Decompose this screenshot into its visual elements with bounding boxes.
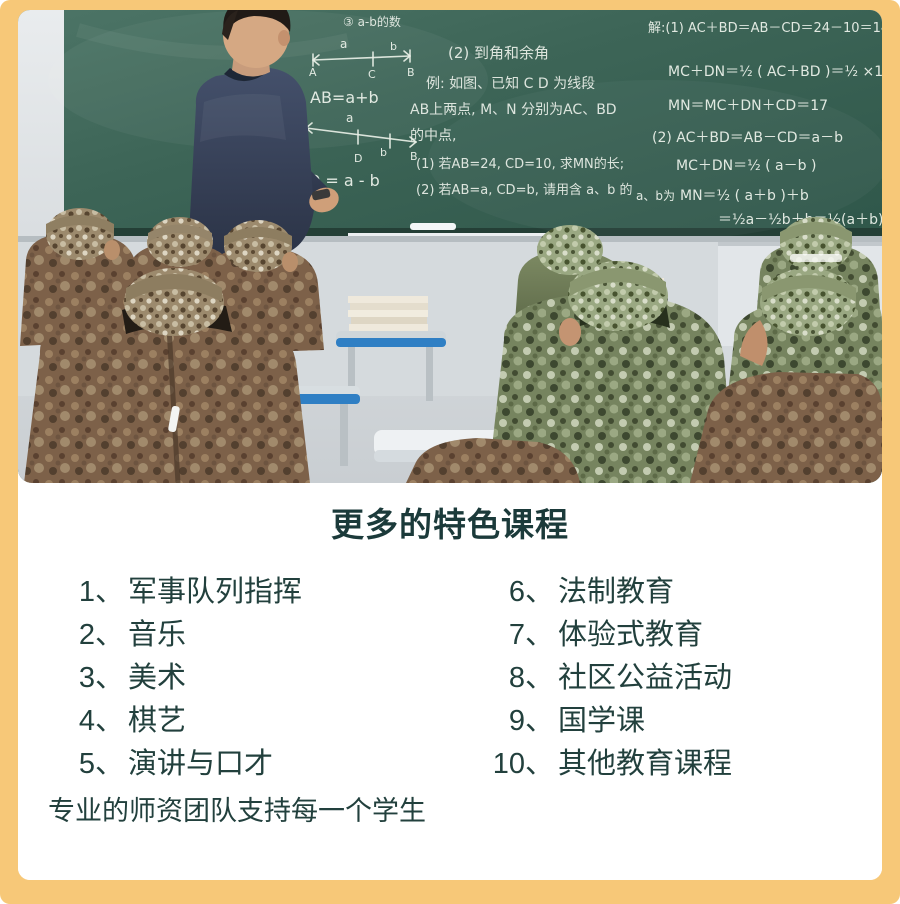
course-item-4[interactable]: 4、 棋艺 (46, 700, 446, 743)
course-item-8[interactable]: 8、 社区公益活动 (468, 657, 868, 700)
course-label: 棋艺 (128, 700, 186, 743)
course-label: 法制教育 (558, 571, 674, 614)
poster-card: a b A C B AB=a+b a b A D B D = a - b (0, 0, 900, 904)
svg-text:b: b (380, 146, 387, 159)
svg-text:的中点,: 的中点, (410, 128, 456, 144)
course-list: 1、 军事队列指挥 2、 音乐 3、 美术 4、 棋艺 (18, 571, 882, 786)
svg-text:D: D (354, 152, 362, 165)
page-title: 更多的特色课程 (18, 505, 882, 545)
svg-text:C: C (368, 68, 376, 81)
svg-text:(2) 到角和余角: (2) 到角和余角 (448, 44, 549, 62)
course-item-6[interactable]: 6、 法制教育 (468, 571, 868, 614)
course-label: 社区公益活动 (558, 657, 732, 700)
svg-text:MN＝½ ( a＋b )＋b: MN＝½ ( a＋b )＋b (680, 188, 809, 204)
svg-text:AB上两点, M、N 分别为AC、BD: AB上两点, M、N 分别为AC、BD (410, 102, 617, 118)
svg-text:MC＋DN＝½ ( AC＋BD )＝½ ×14＝7: MC＋DN＝½ ( AC＋BD )＝½ ×14＝7 (668, 64, 882, 80)
course-number: 3、 (46, 657, 128, 700)
course-number: 9、 (468, 700, 558, 743)
course-label: 美术 (128, 657, 186, 700)
svg-text:a: a (340, 37, 347, 51)
svg-text:a: a (346, 111, 353, 125)
svg-text:a、b为: a、b为 (636, 189, 675, 203)
course-label: 演讲与口才 (128, 743, 273, 786)
course-column-left: 1、 军事队列指挥 2、 音乐 3、 美术 4、 棋艺 (46, 571, 446, 786)
course-item-1[interactable]: 1、 军事队列指挥 (46, 571, 446, 614)
svg-text:解:(1) AC＋BD＝AB－CD＝24－10＝14: 解:(1) AC＋BD＝AB－CD＝24－10＝14 (648, 21, 882, 36)
course-item-9[interactable]: 9、 国学课 (468, 700, 868, 743)
course-number: 10、 (468, 743, 558, 786)
classroom-photo-illustration: a b A C B AB=a+b a b A D B D = a - b (18, 10, 882, 483)
course-column-right: 6、 法制教育 7、 体验式教育 8、 社区公益活动 9、 国学课 (468, 571, 868, 786)
course-label: 其他教育课程 (558, 743, 732, 786)
svg-text:MC＋DN＝½ ( a－b ): MC＋DN＝½ ( a－b ) (676, 158, 816, 174)
tagline: 专业的师资团队支持每一个学生 (18, 794, 882, 829)
course-number: 5、 (46, 743, 128, 786)
svg-text:AB=a+b: AB=a+b (310, 88, 379, 107)
course-item-7[interactable]: 7、 体验式教育 (468, 614, 868, 657)
svg-text:(2) 若AB=a, CD=b, 请用含 a、b 的: (2) 若AB=a, CD=b, 请用含 a、b 的 (416, 182, 632, 198)
svg-text:MN＝MC＋DN＋CD＝17: MN＝MC＋DN＋CD＝17 (668, 98, 828, 114)
classroom-photo: a b A C B AB=a+b a b A D B D = a - b (18, 10, 882, 483)
svg-text:例: 如图、已知 C D 为线段: 例: 如图、已知 C D 为线段 (426, 75, 595, 92)
course-number: 1、 (46, 571, 128, 614)
course-label: 体验式教育 (558, 614, 703, 657)
svg-text:b: b (390, 40, 397, 53)
course-number: 4、 (46, 700, 128, 743)
course-label: 国学课 (558, 700, 645, 743)
course-item-5[interactable]: 5、 演讲与口才 (46, 743, 446, 786)
svg-text:(2) AC＋BD＝AB－CD＝a－b: (2) AC＋BD＝AB－CD＝a－b (652, 130, 843, 146)
poster-inner: a b A C B AB=a+b a b A D B D = a - b (18, 10, 882, 880)
svg-text:B: B (407, 66, 415, 79)
course-label: 音乐 (128, 614, 186, 657)
content-panel: 更多的特色课程 1、 军事队列指挥 2、 音乐 3、 美术 (18, 483, 882, 880)
svg-text:③ a-b的数: ③ a-b的数 (343, 14, 401, 29)
course-number: 7、 (468, 614, 558, 657)
course-label: 军事队列指挥 (128, 571, 302, 614)
course-item-2[interactable]: 2、 音乐 (46, 614, 446, 657)
course-item-10[interactable]: 10、 其他教育课程 (468, 743, 868, 786)
svg-text:A: A (309, 66, 317, 79)
svg-text:(1) 若AB=24, CD=10, 求MN的长;: (1) 若AB=24, CD=10, 求MN的长; (416, 156, 624, 172)
course-item-3[interactable]: 3、 美术 (46, 657, 446, 700)
course-number: 8、 (468, 657, 558, 700)
course-number: 2、 (46, 614, 128, 657)
course-number: 6、 (468, 571, 558, 614)
